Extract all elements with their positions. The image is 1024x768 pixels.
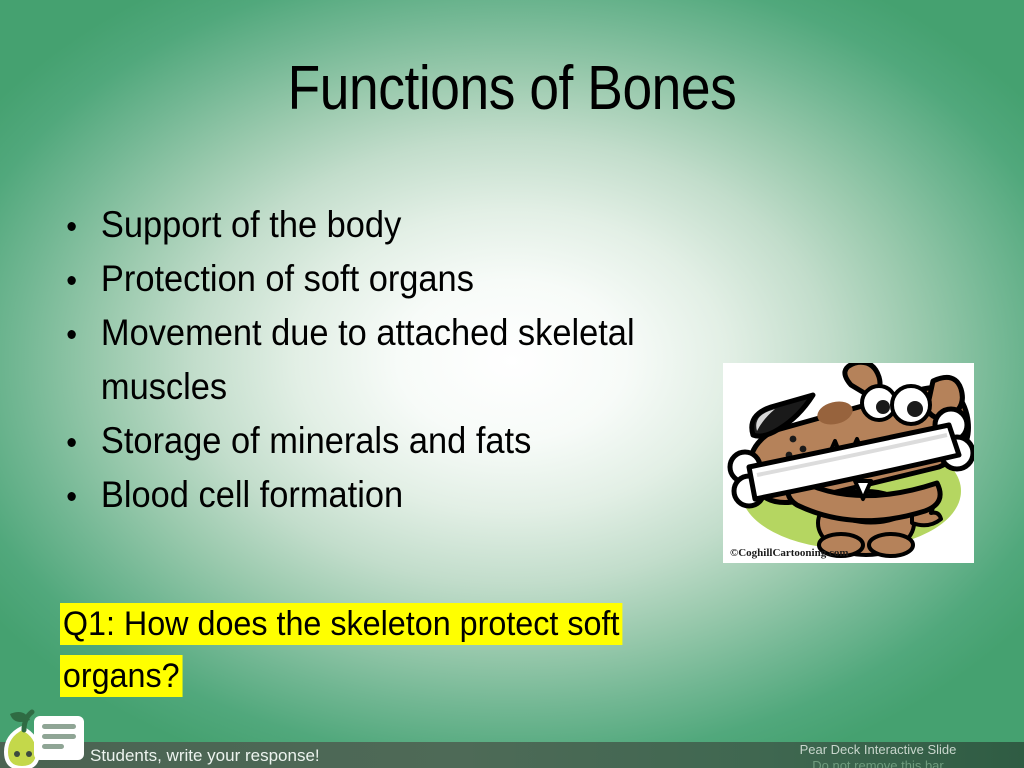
bullet-item: Protection of soft organs xyxy=(60,252,674,306)
question-line-2: organs? xyxy=(60,655,182,697)
bullet-text: Support of the body xyxy=(101,204,401,245)
question-line-1: Q1: How does the skeleton protect soft xyxy=(60,603,622,645)
bullet-dot-icon xyxy=(67,276,75,285)
pear-deck-label: Pear Deck Interactive Slide Do not remov… xyxy=(748,742,1008,768)
pear-deck-label-line2: Do not remove this bar xyxy=(748,758,1008,768)
bullet-dot-icon xyxy=(67,438,75,447)
slide-title: Functions of Bones xyxy=(72,52,953,126)
pear-deck-prompt: Students, write your response! xyxy=(90,746,320,766)
bullet-text: Storage of minerals and fats xyxy=(101,420,531,461)
pear-deck-logo xyxy=(2,708,86,768)
bullet-item: Support of the body xyxy=(60,198,674,252)
pear-icon xyxy=(2,708,86,768)
dog-illustration xyxy=(723,363,974,563)
presentation-slide: Functions of Bones Support of the body P… xyxy=(0,0,1024,768)
pear-deck-label-line1: Pear Deck Interactive Slide xyxy=(748,742,1008,758)
bullet-dot-icon xyxy=(67,222,75,231)
bullet-item: Movement due to attached skeletal muscle… xyxy=(60,306,674,414)
bullet-dot-icon xyxy=(67,492,75,501)
bullet-item: Storage of minerals and fats xyxy=(60,414,674,468)
bullet-text: Protection of soft organs xyxy=(101,258,474,299)
bullet-text: Movement due to attached skeletal muscle… xyxy=(101,312,635,407)
bullet-list: Support of the body Protection of soft o… xyxy=(60,198,720,522)
dog-with-bone-clipart: ©CoghillCartooning.com xyxy=(723,363,974,563)
question-text-block: Q1: How does the skeleton protect soft o… xyxy=(60,598,849,702)
bullet-dot-icon xyxy=(67,330,75,339)
bullet-text: Blood cell formation xyxy=(101,474,403,515)
bullet-item: Blood cell formation xyxy=(60,468,674,522)
clipart-credit: ©CoghillCartooning.com xyxy=(730,547,849,559)
